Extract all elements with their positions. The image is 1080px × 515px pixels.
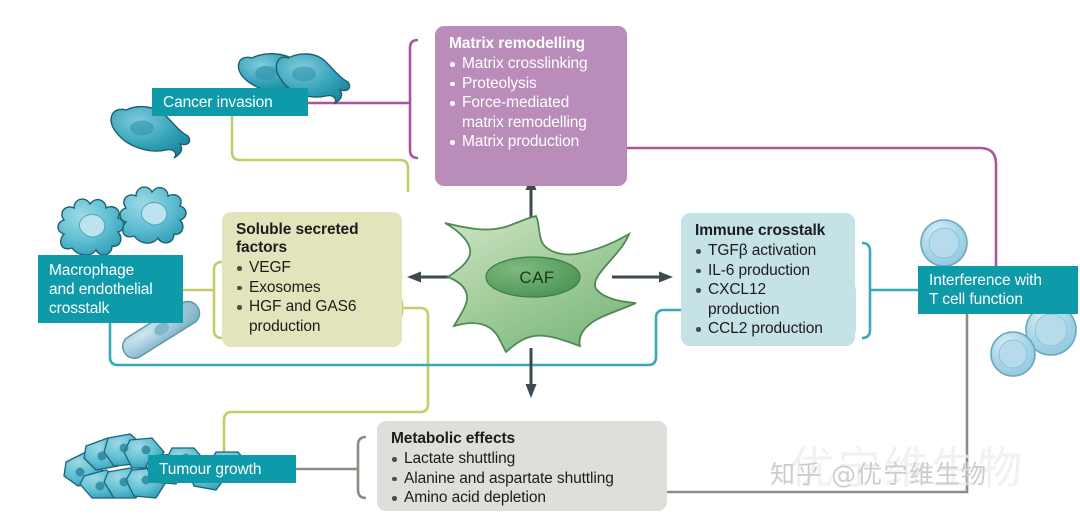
- box-soluble-secreted-factors[interactable]: Soluble secreted factors VEGF Exosomes H…: [222, 212, 402, 347]
- box-metabolic-effects[interactable]: Metabolic effects Lactate shuttling Alan…: [377, 421, 667, 511]
- list-item: Lactate shuttling: [391, 449, 655, 469]
- box-soluble-header: Soluble secreted factors: [236, 221, 390, 257]
- list-item: IL-6 production: [695, 261, 843, 281]
- figure-canvas: CAF Matrix remodelling Matrix crosslinki…: [0, 0, 1080, 515]
- list-item: Force-mediated matrix remodelling: [449, 93, 615, 132]
- watermark: 知乎 @优宁维生物: [770, 455, 987, 491]
- caf-label: CAF: [492, 268, 582, 288]
- macrophage-cell-icon: [58, 187, 186, 255]
- list-item: Alanine and aspartate shuttling: [391, 469, 655, 489]
- box-matrix-remodelling[interactable]: Matrix remodelling Matrix crosslinking P…: [435, 26, 627, 186]
- label-macrophage-endothelial-crosstalk[interactable]: Macrophage and endothelial crosstalk: [38, 255, 183, 323]
- label-text: Macrophage and endothelial crosstalk: [49, 261, 173, 318]
- list-item: Proteolysis: [449, 74, 615, 94]
- list-item: VEGF: [236, 258, 390, 278]
- box-immune-list: TGFβ activation IL-6 production CXCL12 p…: [695, 241, 843, 339]
- list-item: Matrix production: [449, 132, 615, 152]
- box-immune-crosstalk[interactable]: Immune crosstalk TGFβ activation IL-6 pr…: [681, 213, 855, 346]
- label-text: Cancer invasion: [163, 93, 298, 112]
- box-matrix-header: Matrix remodelling: [449, 35, 615, 53]
- box-metabolic-list: Lactate shuttling Alanine and aspartate …: [391, 449, 655, 508]
- label-text: Tumour growth: [159, 460, 286, 479]
- list-item: Amino acid depletion: [391, 488, 655, 508]
- box-immune-header: Immune crosstalk: [695, 222, 843, 240]
- label-text: Interference with T cell function: [929, 271, 1068, 309]
- list-item: CCL2 production: [695, 319, 843, 339]
- box-matrix-list: Matrix crosslinking Proteolysis Force-me…: [449, 54, 615, 152]
- list-item: Exosomes: [236, 278, 390, 298]
- box-soluble-list: VEGF Exosomes HGF and GAS6 production: [236, 258, 390, 336]
- label-cancer-invasion[interactable]: Cancer invasion: [152, 88, 308, 116]
- list-item: TGFβ activation: [695, 241, 843, 261]
- label-tumour-growth[interactable]: Tumour growth: [148, 455, 296, 483]
- list-item: HGF and GAS6 production: [236, 297, 390, 336]
- list-item: CXCL12 production: [695, 280, 843, 319]
- label-interference-t-cell-function[interactable]: Interference with T cell function: [918, 266, 1078, 314]
- list-item: Matrix crosslinking: [449, 54, 615, 74]
- box-metabolic-header: Metabolic effects: [391, 430, 655, 448]
